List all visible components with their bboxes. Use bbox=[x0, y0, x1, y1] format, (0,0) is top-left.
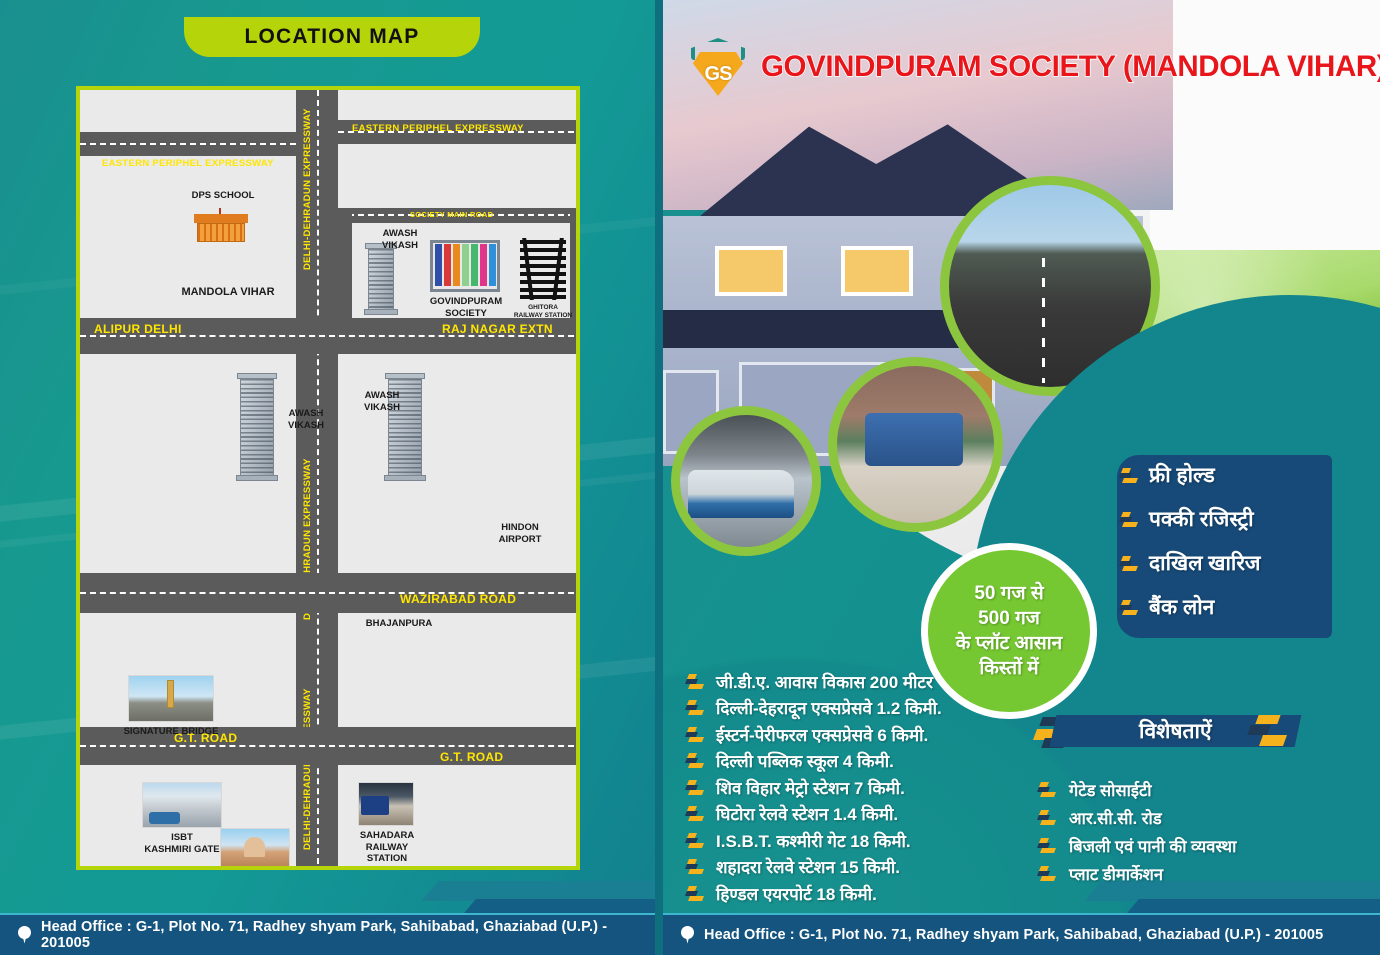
bullet-icon bbox=[1121, 599, 1140, 616]
house-window bbox=[841, 246, 913, 296]
bullet-icon bbox=[687, 752, 706, 769]
benefit-item: फ्री होल्ड bbox=[1121, 455, 1332, 495]
photo-signature-bridge bbox=[128, 675, 214, 722]
offer-line-1: 50 गज से bbox=[974, 581, 1043, 606]
building-awash-vikash-2 bbox=[240, 378, 274, 476]
gs-house-logo-icon: GS bbox=[687, 36, 749, 98]
location-pin-icon bbox=[18, 926, 31, 945]
highlight-label: दिल्ली-देहरादून एक्सप्रेसवे 1.2 किमी. bbox=[716, 696, 942, 719]
place-hindon-airport: HINDONAIRPORT bbox=[480, 522, 560, 545]
highlight-item: I.S.B.T. कश्मीरी गेट 18 किमी. bbox=[687, 827, 942, 854]
road-label-delhi-dehradun-1: DELHI-DEHRADUN EXPRESSWAY bbox=[302, 108, 313, 270]
feature-label: प्लाट डीमार्केशन bbox=[1069, 862, 1163, 885]
place-awash-vikash-2: AWASHVIKASH bbox=[276, 408, 336, 431]
road-label-gt-right: G.T. ROAD bbox=[440, 750, 503, 764]
footer-ribbon-accent bbox=[1127, 899, 1380, 913]
highlight-label: जी.डी.ए. आवास विकास 200 मीटर bbox=[716, 670, 933, 693]
bullet-icon bbox=[687, 726, 706, 743]
highlight-item: घिटोरा रेलवे स्टेशन 1.4 किमी. bbox=[687, 801, 942, 828]
left-footer-bar: Head Office : G-1, Plot No. 71, Radhey s… bbox=[0, 913, 655, 955]
school-icon bbox=[194, 208, 248, 242]
brand-logo-group: GS GOVINDPURAM SOCIETY (MANDOLA VIHAR) bbox=[687, 36, 1380, 98]
right-footer-text: Head Office : G-1, Plot No. 71, Radhey s… bbox=[704, 927, 1323, 943]
location-pin-icon bbox=[681, 926, 694, 945]
highlight-label: घिटोरा रेलवे स्टेशन 1.4 किमी. bbox=[716, 802, 898, 825]
road-society-connector bbox=[338, 208, 352, 330]
benefit-item: बैंक लोन bbox=[1121, 587, 1332, 627]
bullet-icon bbox=[1039, 837, 1058, 854]
road-label-alipur-delhi: ALIPUR DELHI bbox=[94, 322, 182, 336]
brand-title: GOVINDPURAM SOCIETY (MANDOLA VIHAR) bbox=[761, 50, 1380, 84]
highlight-label: हिण्डल एयरपोर्ट 18 किमी. bbox=[716, 882, 877, 905]
feature-label: बिजली एवं पानी की व्यवस्था bbox=[1069, 834, 1236, 857]
offer-line-4: किस्तों में bbox=[979, 656, 1038, 681]
place-isbt-kashmiri-gate: ISBTKASHMIRI GATE bbox=[130, 832, 234, 855]
feature-item: गेटेड सोसाईटी bbox=[1039, 775, 1236, 803]
right-footer-bar: Head Office : G-1, Plot No. 71, Radhey s… bbox=[663, 913, 1380, 955]
bullet-icon bbox=[687, 832, 706, 849]
heading-chip bbox=[1255, 715, 1280, 724]
place-bhajanpura: BHAJANPURA bbox=[354, 618, 444, 630]
highlight-item: शिव विहार मेट्रो स्टेशन 7 किमी. bbox=[687, 774, 942, 801]
highlight-label: दिल्ली पब्लिक स्कूल 4 किमी. bbox=[716, 749, 894, 772]
left-footer-text: Head Office : G-1, Plot No. 71, Radhey s… bbox=[41, 919, 655, 951]
heading-chip bbox=[1247, 725, 1271, 735]
photo-sahadara-railway bbox=[358, 782, 414, 826]
highlight-label: I.S.B.T. कश्मीरी गेट 18 किमी. bbox=[716, 829, 911, 852]
feature-item: प्लाट डीमार्केशन bbox=[1039, 859, 1236, 887]
building-awash-vikash-1 bbox=[368, 248, 394, 310]
benefit-label: पक्की रजिस्ट्री bbox=[1149, 505, 1254, 533]
highlight-label: शहादरा रेलवे स्टेशन 15 किमी. bbox=[716, 855, 900, 878]
highlight-item: जी.डी.ए. आवास विकास 200 मीटर bbox=[687, 668, 942, 695]
brochure-page: LOCATION MAP DELHI-DEHRADUN EXPRESSWAY D… bbox=[0, 0, 1380, 955]
govindpuram-site-plan bbox=[430, 240, 500, 292]
bullet-icon bbox=[1121, 555, 1140, 572]
bullet-icon bbox=[1121, 511, 1140, 528]
highlights-list: जी.डी.ए. आवास विकास 200 मीटर दिल्ली-देहर… bbox=[687, 668, 942, 907]
photo-isbt-kashmiri-gate bbox=[142, 782, 222, 828]
offer-badge: 50 गज से 500 गज के प्लॉट आसान किस्तों मे… bbox=[921, 543, 1097, 719]
place-ghitora-railway: GHITORARAILWAY STATION bbox=[498, 304, 576, 320]
location-map-banner: LOCATION MAP bbox=[184, 17, 480, 57]
benefit-item: दाखिल खारिज bbox=[1121, 543, 1332, 583]
location-map-panel: LOCATION MAP DELHI-DEHRADUN EXPRESSWAY D… bbox=[0, 0, 655, 955]
bullet-icon bbox=[687, 858, 706, 875]
road-eastern-peripheral-left bbox=[80, 132, 296, 156]
place-sahadara-railway: SAHADARARAILWAYSTATION bbox=[352, 830, 422, 865]
logo-monogram: GS bbox=[693, 54, 743, 94]
feature-item: बिजली एवं पानी की व्यवस्था bbox=[1039, 831, 1236, 859]
place-signature-bridge: SIGNATURE BRIDGE bbox=[118, 726, 224, 738]
bullet-icon bbox=[1039, 809, 1058, 826]
offer-line-3: के प्लॉट आसान bbox=[956, 631, 1062, 656]
highlight-item: दिल्ली पब्लिक स्कूल 4 किमी. bbox=[687, 748, 942, 775]
road-label-delhi-dehradun-3: DELHI-DEHRADUN EXPRESSWAY bbox=[302, 688, 313, 850]
highlight-label: शिव विहार मेट्रो स्टेशन 7 किमी. bbox=[716, 776, 905, 799]
road-label-eastern-peripheral-left: EASTERN PERIPHEL EXPRESSWAY bbox=[102, 158, 274, 169]
brochure-info-panel: GS GOVINDPURAM SOCIETY (MANDOLA VIHAR) 5… bbox=[663, 0, 1380, 955]
highlight-item: ईस्टर्न-पेरीफरल एक्सप्रेसवे 6 किमी. bbox=[687, 721, 942, 748]
features-list: गेटेड सोसाईटी आर.सी.सी. रोड बिजली एवं पा… bbox=[1039, 775, 1236, 887]
railway-track-icon bbox=[520, 238, 566, 300]
feature-item: आर.सी.सी. रोड bbox=[1039, 803, 1236, 831]
benefit-label: फ्री होल्ड bbox=[1149, 461, 1215, 489]
highlight-item: दिल्ली-देहरादून एक्सप्रेसवे 1.2 किमी. bbox=[687, 695, 942, 722]
bullet-icon bbox=[1039, 781, 1058, 798]
footer-ribbon-accent bbox=[422, 881, 655, 901]
highlight-item: हिण्डल एयरपोर्ट 18 किमी. bbox=[687, 880, 942, 907]
benefit-label: दाखिल खारिज bbox=[1149, 549, 1261, 577]
road-label-society-main: SOCIETY MAIN ROAD bbox=[410, 210, 493, 219]
house-window bbox=[715, 246, 787, 296]
highlight-label: ईस्टर्न-पेरीफरल एक्सप्रेसवे 6 किमी. bbox=[716, 723, 928, 746]
benefit-item: पक्की रजिस्ट्री bbox=[1121, 499, 1332, 539]
place-awash-vikash-3: AWASHVIKASH bbox=[352, 390, 412, 413]
benefit-label: बैंक लोन bbox=[1149, 593, 1214, 621]
bullet-icon bbox=[687, 673, 706, 690]
bullet-icon bbox=[687, 885, 706, 902]
features-heading-label: विशेषताऐं bbox=[1139, 717, 1212, 745]
map-canvas: DELHI-DEHRADUN EXPRESSWAY DELHI-DEHRADUN… bbox=[80, 90, 576, 866]
bullet-icon bbox=[687, 805, 706, 822]
place-awash-vikash-1: AWASHVIKASH bbox=[370, 228, 430, 251]
footer-ribbon-accent bbox=[464, 899, 655, 913]
bullet-icon bbox=[687, 779, 706, 796]
benefits-box: फ्री होल्ड पक्की रजिस्ट्री दाखिल खारिज ब… bbox=[1117, 455, 1332, 638]
bullet-icon bbox=[1039, 865, 1058, 882]
road-label-raj-nagar-extn: RAJ NAGAR EXTN bbox=[442, 322, 553, 336]
bullet-icon bbox=[687, 699, 706, 716]
road-label-eastern-peripheral-right: EASTERN PERIPHEL EXPRESSWAY bbox=[352, 123, 524, 134]
place-mandola-vihar: MANDOLA VIHAR bbox=[168, 286, 288, 299]
map-frame: DELHI-DEHRADUN EXPRESSWAY DELHI-DEHRADUN… bbox=[76, 86, 580, 870]
highlight-item: शहादरा रेलवे स्टेशन 15 किमी. bbox=[687, 854, 942, 881]
location-map-title: LOCATION MAP bbox=[245, 25, 420, 49]
place-dps-school: DPS SCHOOL bbox=[178, 190, 268, 202]
bullet-icon bbox=[1121, 467, 1140, 484]
feature-label: गेटेड सोसाईटी bbox=[1069, 778, 1152, 801]
photo-akshardham-mandir bbox=[220, 828, 290, 866]
offer-line-2: 500 गज bbox=[978, 606, 1040, 631]
feature-label: आर.सी.सी. रोड bbox=[1069, 806, 1162, 829]
road-label-wazirabad: WAZIRABAD ROAD bbox=[400, 592, 516, 606]
heading-chip bbox=[1259, 735, 1287, 746]
features-heading-banner: विशेषताऐं bbox=[1035, 715, 1315, 749]
